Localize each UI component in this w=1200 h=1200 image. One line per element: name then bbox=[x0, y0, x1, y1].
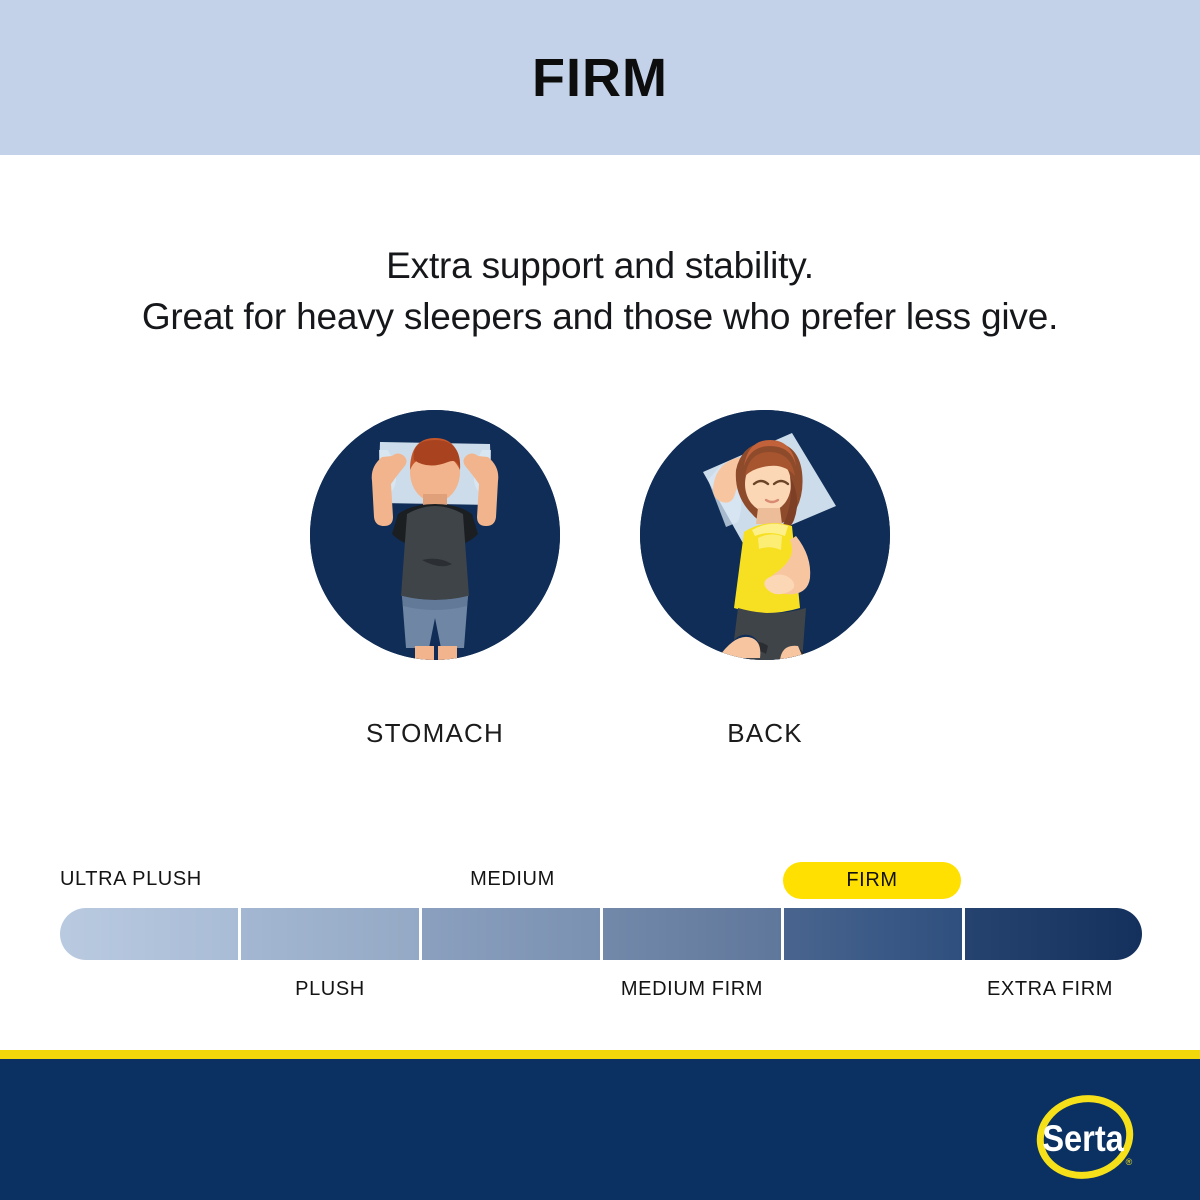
firmness-segment-extra-firm[interactable] bbox=[965, 908, 1142, 960]
sleeper-stomach: STOMACH bbox=[290, 410, 580, 749]
scale-label-medium-firm: MEDIUM FIRM bbox=[603, 978, 781, 1001]
serta-trademark: ® bbox=[1126, 1157, 1133, 1167]
stomach-sleeper-icon bbox=[310, 410, 560, 660]
footer-band bbox=[0, 1059, 1200, 1200]
header-band: FIRM bbox=[0, 0, 1200, 155]
scale-labels-top: ULTRA PLUSH MEDIUM FIRM bbox=[60, 862, 1142, 902]
firmness-infographic: FIRM Extra support and stability. Great … bbox=[0, 0, 1200, 1200]
sleeper-positions: STOMACH bbox=[0, 410, 1200, 749]
firmness-segment-plush[interactable] bbox=[241, 908, 419, 960]
serta-wordmark: Serta bbox=[1042, 1118, 1124, 1159]
scale-badge-firm[interactable]: FIRM bbox=[783, 862, 961, 899]
subtitle: Extra support and stability. Great for h… bbox=[0, 240, 1200, 342]
sleeper-label-stomach: STOMACH bbox=[366, 718, 504, 749]
sleeper-label-back: BACK bbox=[727, 718, 803, 749]
firmness-segment-firm[interactable] bbox=[784, 908, 962, 960]
subtitle-line-2: Great for heavy sleepers and those who p… bbox=[0, 291, 1200, 342]
serta-logo[interactable]: Serta ® bbox=[1025, 1085, 1145, 1190]
firmness-segment-medium-firm[interactable] bbox=[603, 908, 781, 960]
firmness-bar bbox=[60, 908, 1142, 960]
subtitle-line-1: Extra support and stability. bbox=[0, 240, 1200, 291]
back-sleeper-icon bbox=[640, 410, 890, 660]
scale-labels-bottom: PLUSH MEDIUM FIRM EXTRA FIRM bbox=[60, 972, 1142, 1012]
scale-label-plush: PLUSH bbox=[241, 978, 419, 1001]
scale-label-ultra-plush: ULTRA PLUSH bbox=[60, 868, 202, 891]
firmness-segment-ultra-plush[interactable] bbox=[60, 908, 238, 960]
scale-label-medium: MEDIUM bbox=[420, 868, 605, 891]
page-title: FIRM bbox=[532, 51, 668, 105]
footer-accent-stripe bbox=[0, 1050, 1200, 1059]
firmness-segment-medium[interactable] bbox=[422, 908, 600, 960]
firmness-scale: ULTRA PLUSH MEDIUM FIRM PLUSH MEDIUM FIR… bbox=[60, 862, 1142, 1012]
sleeper-back: BACK bbox=[620, 410, 910, 749]
scale-label-extra-firm: EXTRA FIRM bbox=[960, 978, 1140, 1001]
